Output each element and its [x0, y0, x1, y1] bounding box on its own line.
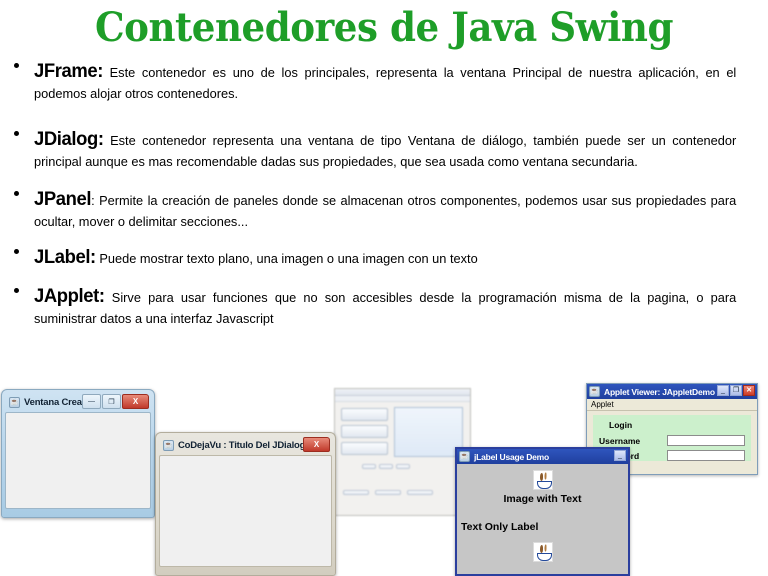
minimize-button[interactable]: _ — [717, 385, 729, 396]
window-title: Applet Viewer: JAppletDemo — [604, 387, 715, 397]
bullet-dot-icon — [14, 288, 19, 293]
jframe-titlebar[interactable]: ☕ Ventana Creada — ❐ X — [5, 393, 151, 412]
bullet-text: Este contenedor es uno de los principale… — [34, 65, 736, 101]
jdialog-content-pane — [159, 455, 332, 567]
ide-toolbar — [335, 389, 470, 396]
ide-button[interactable] — [341, 442, 388, 455]
java-cup-icon — [533, 542, 553, 562]
ide-tab-button[interactable] — [407, 490, 433, 495]
java-icon: ☕ — [589, 386, 600, 397]
jpanel-example-window[interactable] — [334, 388, 471, 516]
username-row: Username — [599, 435, 745, 446]
minimize-button[interactable]: — — [82, 394, 101, 409]
list-item: JApplet: Sirve para usar funciones que n… — [0, 283, 768, 329]
bullet-term: JFrame: — [34, 61, 103, 82]
java-icon: ☕ — [459, 451, 470, 462]
list-item: JPanel: Permite la creación de paneles d… — [0, 186, 768, 232]
bullet-text: Sirve para usar funciones que no son acc… — [34, 290, 736, 326]
image-with-text-label: Image with Text — [457, 493, 628, 505]
close-button[interactable]: X — [122, 394, 149, 409]
jlabel-example-window[interactable]: ☕ jLabel Usage Demo _ Image with Text Te… — [455, 447, 630, 576]
username-label: Username — [599, 436, 667, 446]
java-cup-icon — [533, 470, 553, 490]
list-item: JLabel: Puede mostrar texto plano, una i… — [0, 244, 768, 271]
bullet-dot-icon — [14, 191, 19, 196]
list-item: JDialog: Este contenedor representa una … — [0, 126, 768, 172]
ide-button[interactable] — [341, 425, 388, 438]
bullet-term: JApplet: — [34, 286, 105, 307]
bullet-term: JLabel: — [34, 247, 96, 268]
window-controls: X — [302, 437, 330, 452]
bullet-term: JDialog: — [34, 129, 104, 150]
bullet-list: JFrame: Este contenedor es uno de los pr… — [0, 58, 768, 331]
jlabel-content-pane: Image with Text Text Only Label — [457, 464, 628, 574]
ide-tab-button[interactable] — [375, 490, 401, 495]
bullet-dot-icon — [14, 63, 19, 68]
page-title: Contenedores de Java Swing — [27, 4, 741, 51]
maximize-button[interactable]: ❐ — [730, 385, 742, 396]
java-cup-icon-bottom-wrap — [457, 542, 628, 562]
bullet-dot-icon — [14, 249, 19, 254]
close-button[interactable]: X — [303, 437, 330, 452]
window-title: jLabel Usage Demo — [474, 452, 549, 462]
login-heading: Login — [609, 420, 745, 430]
bullet-text: Este contenedor representa una ventana d… — [34, 133, 736, 169]
window-controls: — ❐ X — [81, 394, 149, 409]
window-controls: _ — [614, 450, 626, 461]
bullet-term: JPanel — [34, 189, 91, 210]
bullet-dot-icon — [14, 131, 19, 136]
jlabel-titlebar[interactable]: ☕ jLabel Usage Demo _ — [457, 449, 628, 464]
jframe-content-pane — [5, 412, 151, 509]
applet-titlebar[interactable]: ☕ Applet Viewer: JAppletDemo _ ❐ ✕ — [587, 384, 757, 399]
jdialog-titlebar[interactable]: ☕ CoDejaVu : Titulo Del JDialog X — [159, 436, 332, 455]
username-input[interactable] — [667, 435, 745, 446]
minimize-button[interactable]: _ — [614, 450, 626, 461]
ide-small-button[interactable] — [362, 464, 376, 469]
bullet-text: Puede mostrar texto plano, una imagen o … — [96, 251, 478, 266]
jdialog-example-window[interactable]: ☕ CoDejaVu : Titulo Del JDialog X — [155, 432, 336, 576]
ide-tab-button[interactable] — [343, 490, 369, 495]
ide-small-button[interactable] — [379, 464, 393, 469]
password-input[interactable] — [667, 450, 745, 461]
text-only-label: Text Only Label — [461, 521, 628, 533]
applet-menu[interactable]: Applet — [587, 399, 757, 411]
ide-content — [335, 402, 470, 515]
maximize-button[interactable]: ❐ — [102, 394, 121, 409]
window-controls: _ ❐ ✕ — [717, 385, 755, 396]
list-item: JFrame: Este contenedor es uno de los pr… — [0, 58, 768, 104]
window-title: CoDejaVu : Titulo Del JDialog — [178, 440, 305, 451]
java-icon: ☕ — [163, 440, 174, 451]
ide-small-button[interactable] — [396, 464, 410, 469]
ide-button[interactable] — [341, 408, 388, 421]
close-button[interactable]: ✕ — [743, 385, 755, 396]
java-icon: ☕ — [9, 397, 20, 408]
jframe-example-window[interactable]: ☕ Ventana Creada — ❐ X — [1, 389, 155, 518]
bullet-text: : Permite la creación de paneles donde s… — [34, 193, 736, 229]
ide-preview-panel — [394, 407, 463, 457]
